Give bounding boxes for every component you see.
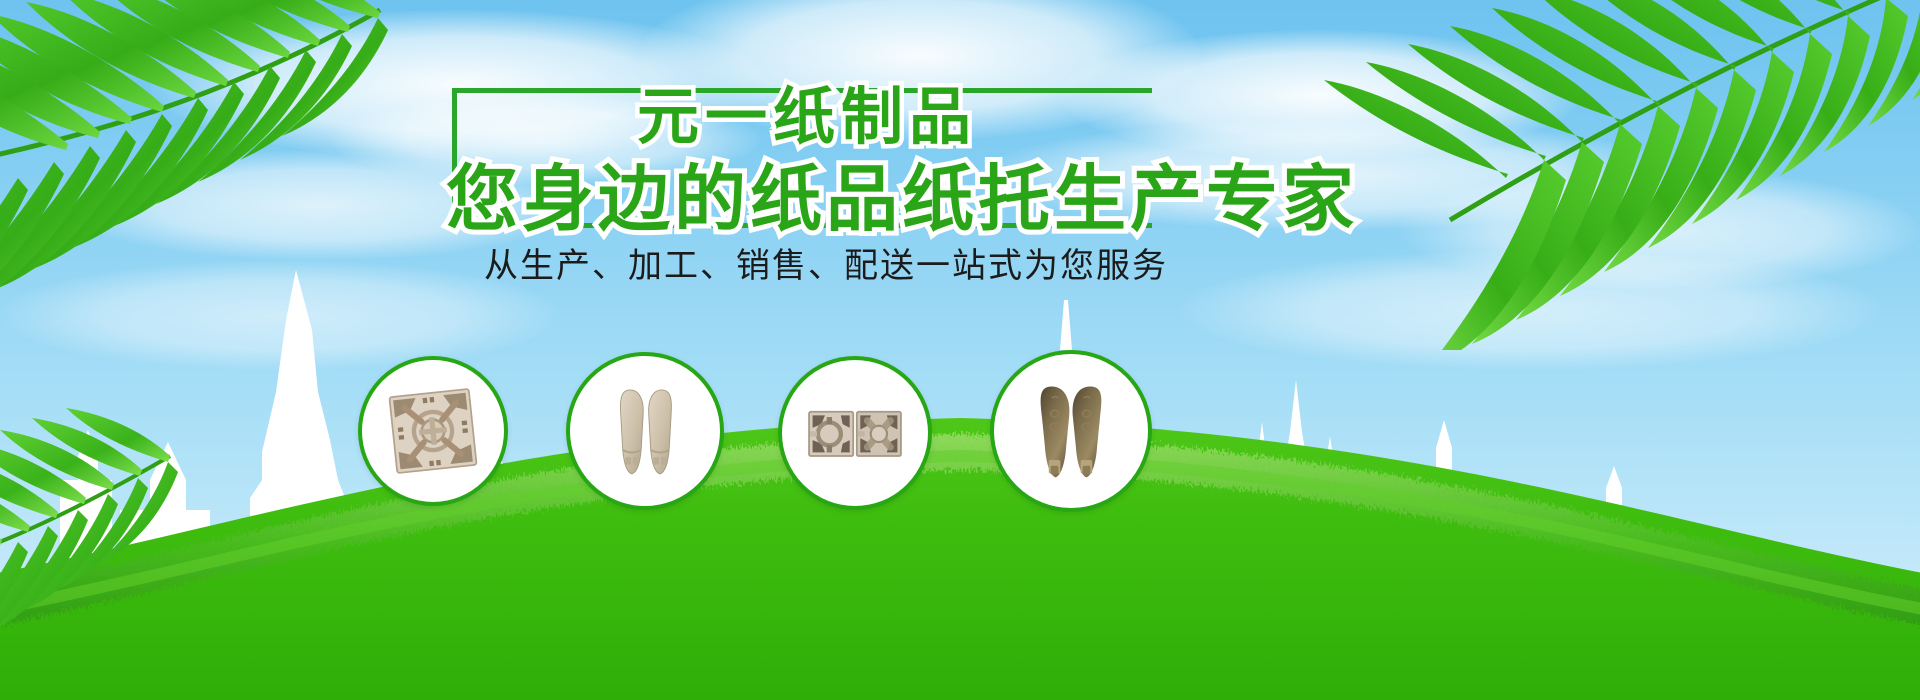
promo-banner: 元一纸制品 您身边的纸品纸托生产专家 从生产、加工、销售、配送一站式为您服务 — [0, 0, 1920, 700]
grass-hill — [0, 280, 1920, 700]
headline-frame: 元一纸制品 您身边的纸品纸托生产专家 — [452, 88, 1152, 228]
product-image-pulp-shoe-forms-dark — [994, 354, 1148, 508]
product-circle-3[interactable] — [778, 356, 932, 510]
headline-line-2: 您身边的纸品纸托生产专家 — [446, 140, 1358, 245]
product-image-pulp-shoe-inserts-light — [570, 356, 720, 506]
product-image-pulp-packaging-inserts — [782, 360, 928, 506]
product-circle-1[interactable] — [358, 356, 508, 506]
subtitle-text: 从生产、加工、销售、配送一站式为您服务 — [484, 238, 1124, 287]
product-circle-2[interactable] — [566, 352, 724, 510]
product-image-square-pulp-tray — [362, 360, 504, 502]
product-circle-4[interactable] — [990, 350, 1152, 512]
